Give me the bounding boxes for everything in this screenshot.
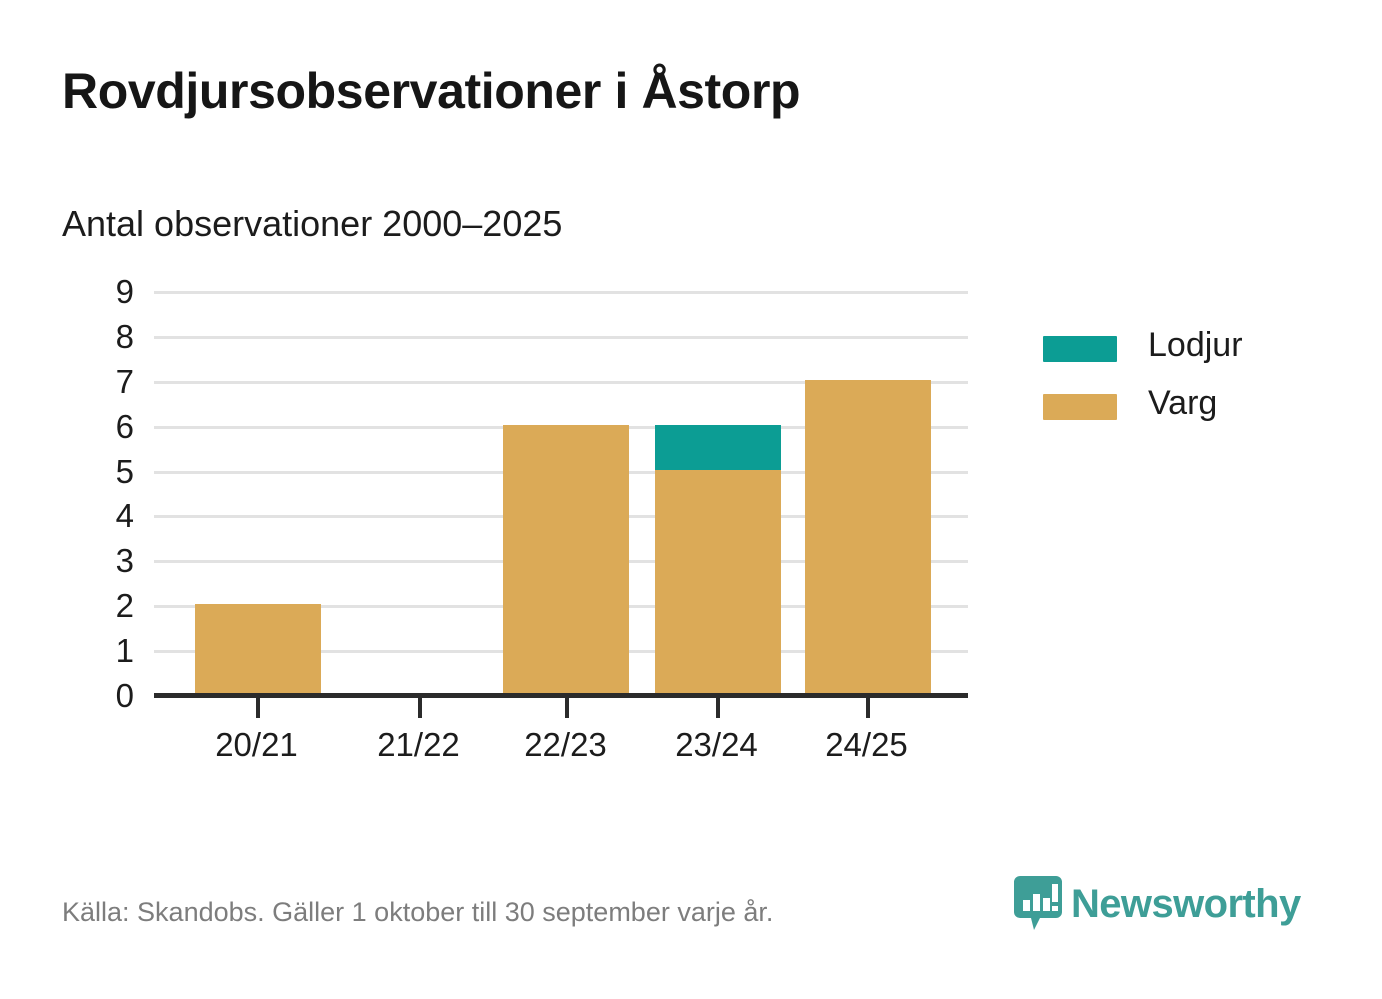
- bar-group-22-23[interactable]: [503, 425, 629, 694]
- bar-segment-varg-22-23[interactable]: [503, 425, 629, 694]
- gridline-8: [154, 336, 968, 339]
- chart-page: Rovdjursobservationer i Åstorp Antal obs…: [0, 0, 1382, 999]
- bar-segment-varg-23-24[interactable]: [655, 470, 781, 694]
- bar-group-23-24[interactable]: [655, 425, 781, 694]
- bar-group-20-21[interactable]: [195, 604, 321, 694]
- brand-name: Newsworthy: [1071, 884, 1301, 924]
- newsworthy-logo[interactable]: Newsworthy: [1014, 876, 1301, 931]
- chart-area: 9 8 7 6 5 4 3 2 1 0: [0, 0, 1382, 999]
- y-tick-9: 9: [70, 275, 134, 308]
- legend-swatch-varg: [1043, 394, 1117, 420]
- y-tick-2: 2: [70, 589, 134, 622]
- y-tick-7: 7: [70, 365, 134, 398]
- x-label-23-24: 23/24: [635, 726, 798, 764]
- x-label-22-23: 22/23: [484, 726, 647, 764]
- x-label-24-25: 24/25: [785, 726, 948, 764]
- source-note: Källa: Skandobs. Gäller 1 oktober till 3…: [62, 897, 773, 928]
- bar-segment-varg-24-25[interactable]: [805, 380, 931, 694]
- y-tick-3: 3: [70, 544, 134, 577]
- y-tick-5: 5: [70, 455, 134, 488]
- y-tick-4: 4: [70, 499, 134, 532]
- legend-label-varg: Varg: [1148, 384, 1217, 423]
- bar-chart-bubble-icon: [1014, 876, 1062, 931]
- x-axis-line: [154, 693, 968, 698]
- bar-group-24-25[interactable]: [805, 380, 931, 694]
- y-tick-1: 1: [70, 634, 134, 667]
- bar-segment-varg-20-21[interactable]: [195, 604, 321, 694]
- legend-label-lodjur: Lodjur: [1148, 326, 1243, 365]
- x-label-20-21: 20/21: [175, 726, 338, 764]
- legend-swatch-lodjur: [1043, 336, 1117, 362]
- bar-segment-lodjur-23-24[interactable]: [655, 425, 781, 470]
- x-label-21-22: 21/22: [337, 726, 500, 764]
- y-tick-8: 8: [70, 320, 134, 353]
- x-tickmark-23-24: [716, 698, 720, 718]
- y-tick-6: 6: [70, 410, 134, 443]
- x-tickmark-21-22: [418, 698, 422, 718]
- x-tickmark-24-25: [866, 698, 870, 718]
- y-tick-0: 0: [70, 679, 134, 712]
- x-tickmark-20-21: [256, 698, 260, 718]
- x-tickmark-22-23: [565, 698, 569, 718]
- gridline-9: [154, 291, 968, 294]
